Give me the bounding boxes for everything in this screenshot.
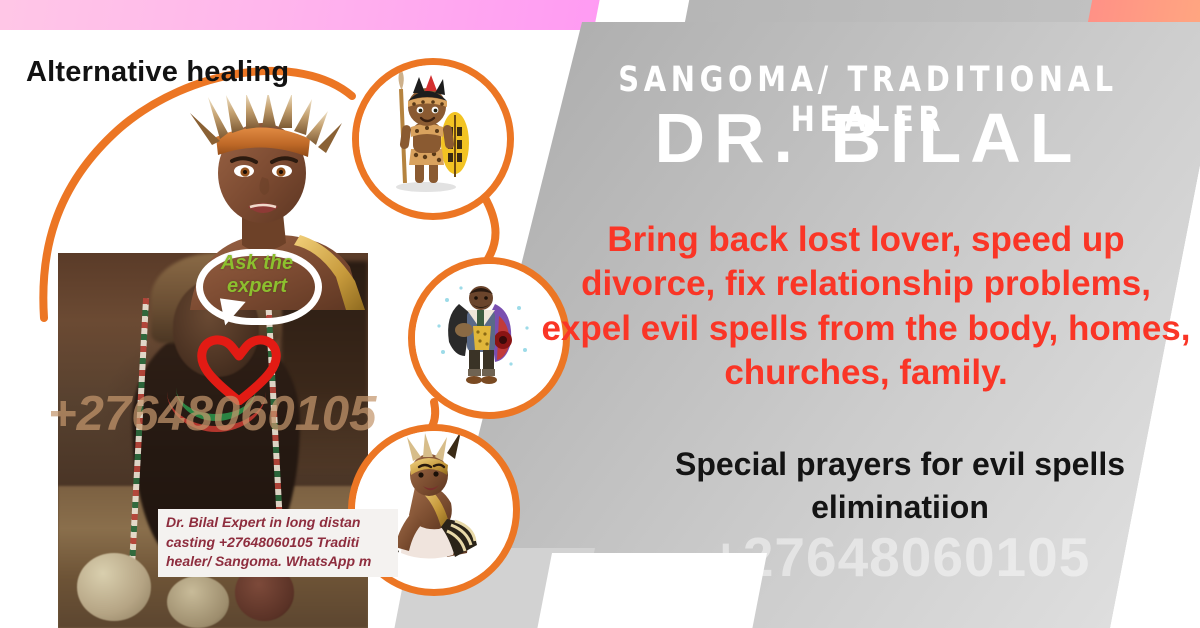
special-prayers-text: Special prayers for evil spells eliminat… <box>600 443 1200 528</box>
caption-line-1: Dr. Bilal Expert in long distan <box>166 513 392 533</box>
doctor-name-title: DR. BILAL <box>548 102 1188 176</box>
photo-caption-bar: Dr. Bilal Expert in long distan casting … <box>158 509 398 577</box>
circle-inset-warrior <box>352 58 514 220</box>
photo-clay-pot-1 <box>77 553 151 621</box>
caption-line-2: casting +27648060105 Traditi <box>166 533 392 553</box>
ask-the-expert-text: Ask the expert <box>204 252 310 298</box>
phone-watermark-right: +27648060105 <box>600 525 1200 589</box>
top-pink-accent-bar <box>0 0 600 30</box>
services-text: Bring back lost lover, speed up divorce,… <box>536 218 1196 396</box>
poster-canvas: Alternative healing <box>0 0 1200 628</box>
photo-phone-watermark: +27648060105 <box>48 386 376 442</box>
photo-clay-pot-2 <box>167 576 229 628</box>
traditional-healer-figure-icon <box>415 264 549 398</box>
zulu-warrior-cartoon-icon <box>359 65 493 199</box>
alternative-healing-heading: Alternative healing <box>26 56 289 89</box>
caption-line-3: healer/ Sangoma. WhatsApp m <box>166 552 392 572</box>
